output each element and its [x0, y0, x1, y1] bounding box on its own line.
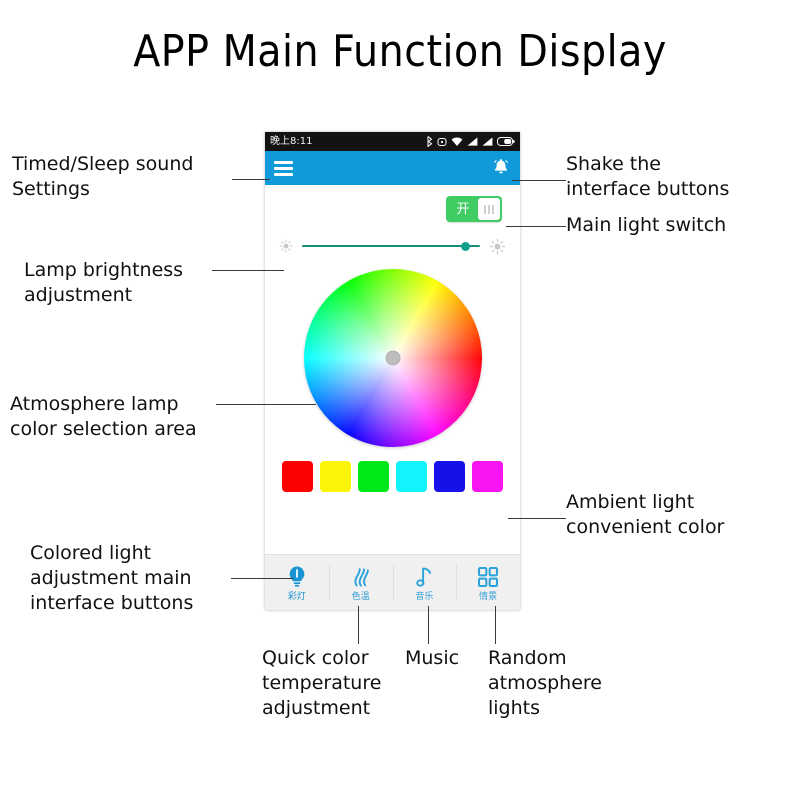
status-time: 晚上8:11	[270, 137, 312, 147]
tab-label: 色温	[352, 593, 370, 602]
brightness-knob[interactable]	[461, 242, 470, 251]
annotation-color-temperature: Quick color temperature adjustment	[262, 646, 412, 721]
leader-tabbar	[231, 578, 293, 579]
tab-scene[interactable]: 情景	[456, 555, 520, 610]
hamburger-menu-icon[interactable]	[274, 161, 293, 176]
leader-color-wheel	[216, 404, 316, 405]
alarm-icon	[437, 137, 447, 147]
annotation-shake: Shake the interface buttons	[566, 152, 800, 202]
tab-colored-light[interactable]: 彩灯	[265, 555, 329, 610]
color-wheel[interactable]	[304, 269, 482, 447]
app-bar	[265, 151, 520, 185]
leader-swatches	[508, 518, 566, 519]
swatch-magenta[interactable]	[472, 461, 503, 492]
main-switch-label: 开	[448, 203, 478, 216]
annotation-music: Music	[405, 646, 485, 671]
battery-icon	[497, 137, 515, 146]
swatch-green[interactable]	[358, 461, 389, 492]
tab-label: 彩灯	[288, 593, 306, 602]
brightness-track-line	[302, 245, 480, 247]
signal-icon	[467, 137, 478, 146]
swatch-blue[interactable]	[434, 461, 465, 492]
app-body: 开	[265, 185, 520, 610]
leader-main-switch	[506, 226, 566, 227]
brightness-low-icon	[279, 239, 293, 253]
bottom-tab-bar: 彩灯 色温	[265, 554, 520, 610]
leader-color-temperature	[358, 606, 359, 644]
leader-brightness	[212, 270, 284, 271]
annotation-main-switch: Main light switch	[566, 213, 800, 238]
annotation-scene: Random atmosphere lights	[488, 646, 628, 721]
annotation-color-wheel: Atmosphere lamp color selection area	[10, 392, 260, 442]
poster-root: APP Main Function Display 晚上8:11	[0, 0, 800, 800]
tab-label: 音乐	[415, 593, 433, 602]
tab-label: 情景	[479, 593, 497, 602]
tab-color-temperature[interactable]: 色温	[329, 555, 393, 610]
preset-color-swatches	[265, 461, 520, 492]
grid-squares-icon	[477, 564, 499, 590]
bell-shake-icon[interactable]	[491, 158, 511, 178]
color-wheel-area	[265, 269, 520, 447]
phone-mockup: 晚上8:11	[265, 132, 520, 610]
swatch-cyan[interactable]	[396, 461, 427, 492]
swatch-red[interactable]	[282, 461, 313, 492]
brightness-track[interactable]	[302, 237, 480, 255]
annotation-timed-sleep: Timed/Sleep sound Settings	[12, 152, 252, 202]
annotation-tabbar: Colored light adjustment main interface …	[30, 541, 260, 616]
music-note-icon	[413, 564, 435, 590]
bluetooth-icon	[425, 136, 433, 147]
status-icons	[425, 136, 515, 147]
main-switch-row: 开	[265, 196, 520, 222]
swatch-yellow[interactable]	[320, 461, 351, 492]
main-light-switch[interactable]: 开	[446, 196, 502, 222]
color-wheel-selector[interactable]	[385, 351, 400, 366]
bulb-icon	[286, 564, 308, 590]
main-switch-knob[interactable]	[478, 198, 500, 220]
flame-icon	[350, 564, 372, 590]
page-title: APP Main Function Display	[0, 26, 800, 77]
leader-music	[428, 606, 429, 644]
brightness-high-icon	[489, 238, 506, 255]
status-bar: 晚上8:11	[265, 132, 520, 151]
annotation-brightness: Lamp brightness adjustment	[24, 258, 254, 308]
wifi-icon	[451, 137, 463, 147]
annotation-swatches: Ambient light convenient color	[566, 490, 800, 540]
leader-shake	[512, 180, 566, 181]
tab-music[interactable]: 音乐	[393, 555, 457, 610]
signal-icon	[482, 137, 493, 146]
leader-timed-sleep	[232, 179, 270, 180]
brightness-slider-row	[265, 237, 520, 255]
leader-scene	[495, 606, 496, 644]
